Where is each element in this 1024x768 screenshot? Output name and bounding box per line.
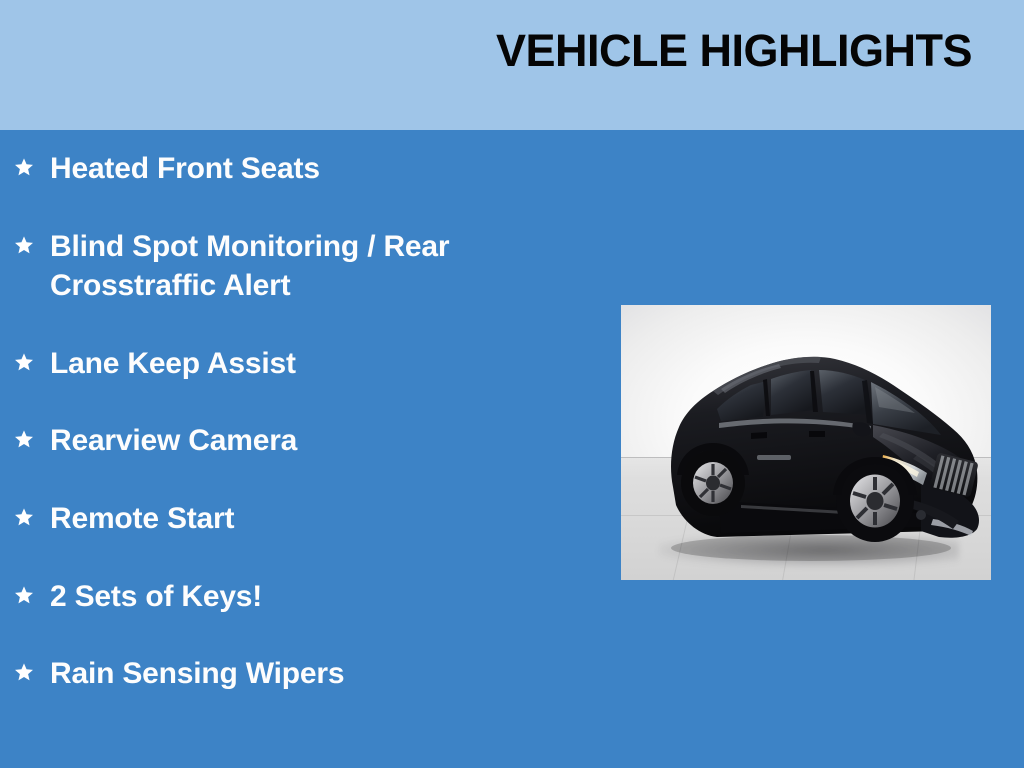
list-item-label: Lane Keep Assist <box>50 344 520 384</box>
star-icon <box>14 577 34 613</box>
list-item-label: Blind Spot Monitoring / Rear Crosstraffi… <box>50 227 520 306</box>
star-icon <box>14 344 34 380</box>
list-item: Rearview Camera <box>0 421 600 461</box>
vehicle-highlights-list: Heated Front Seats Blind Spot Monitoring… <box>0 130 600 732</box>
star-icon <box>14 421 34 457</box>
list-item: Heated Front Seats <box>0 149 600 189</box>
vehicle-highlights-slide: VEHICLE HIGHLIGHTS Heated Front Seats Bl… <box>0 0 1024 768</box>
star-icon <box>14 499 34 535</box>
list-item: Rain Sensing Wipers <box>0 654 600 694</box>
list-item: 2 Sets of Keys! <box>0 577 600 617</box>
list-item: Blind Spot Monitoring / Rear Crosstraffi… <box>0 227 600 306</box>
list-item: Remote Start <box>0 499 600 539</box>
star-icon <box>14 149 34 185</box>
list-item: Lane Keep Assist <box>0 344 600 384</box>
list-item-label: Rain Sensing Wipers <box>50 654 520 694</box>
list-item-label: Remote Start <box>50 499 520 539</box>
star-icon <box>14 227 34 263</box>
list-item-label: Heated Front Seats <box>50 149 520 189</box>
page-title: VEHICLE HIGHLIGHTS <box>496 28 972 73</box>
header-banner: VEHICLE HIGHLIGHTS <box>0 0 1024 130</box>
suv-vehicle-illustration <box>621 305 991 580</box>
list-item-label: 2 Sets of Keys! <box>50 577 520 617</box>
list-item-label: Rearview Camera <box>50 421 520 461</box>
vehicle-photo <box>621 305 991 580</box>
star-icon <box>14 654 34 690</box>
